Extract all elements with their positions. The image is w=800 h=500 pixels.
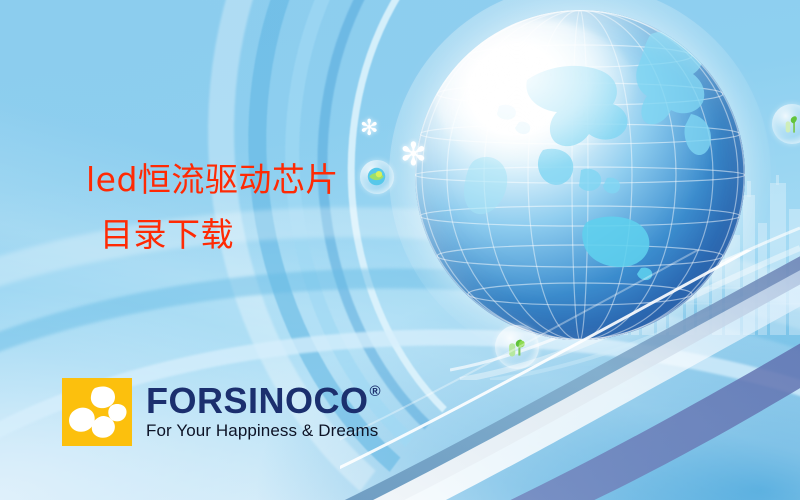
sparkle-icon: ✻ [360, 117, 378, 139]
four-petal-pinwheel-icon [62, 378, 132, 446]
swoosh-ribbon-icon [340, 250, 800, 500]
logo-name-text: FORSINOCO [146, 383, 369, 418]
logo-wordmark: FORSINOCO ® [146, 383, 381, 418]
logo-text-block: FORSINOCO ® For Your Happiness & Dreams [146, 383, 381, 441]
logo-tagline: For Your Happiness & Dreams [146, 421, 381, 441]
registered-trademark-icon: ® [370, 385, 382, 400]
headline-line-2: 目录下载 [86, 218, 416, 251]
headline: led恒流驱动芯片 目录下载 [86, 163, 416, 251]
bubble-inner-graphic [781, 113, 800, 135]
company-logo[interactable]: FORSINOCO ® For Your Happiness & Dreams [62, 378, 381, 446]
promo-banner: ✻ ✻ [0, 0, 800, 500]
headline-line-1: led恒流驱动芯片 [86, 163, 416, 196]
